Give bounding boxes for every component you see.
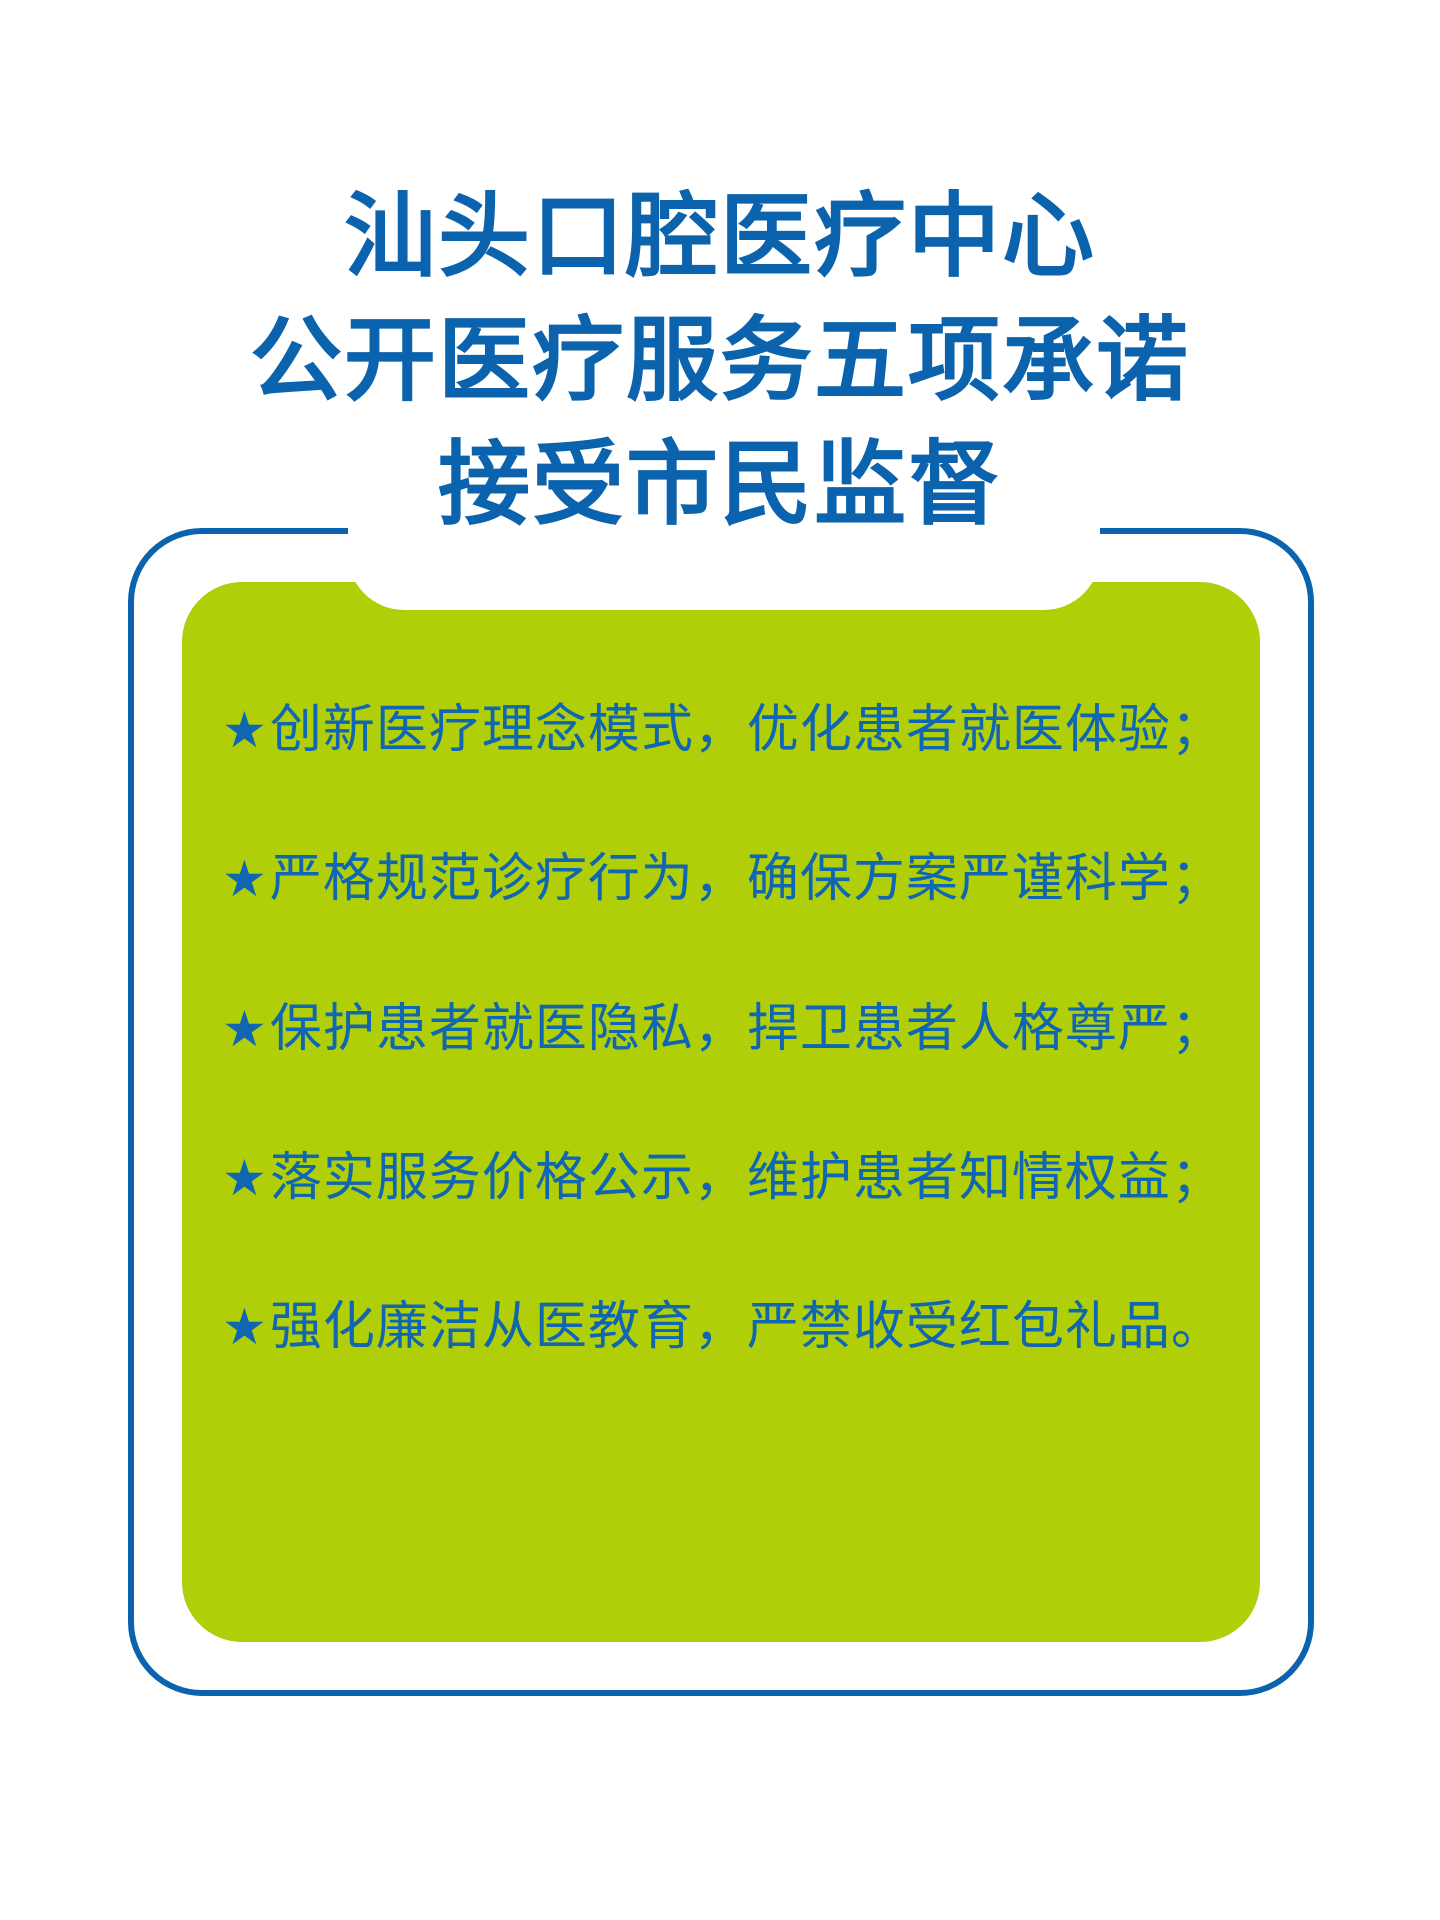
list-item: ★ 保护患者就医隐私，捍卫患者人格尊严； (222, 999, 1220, 1060)
title-line-1: 汕头口腔医疗中心 (0, 180, 1440, 294)
list-item: ★ 创新医疗理念模式，优化患者就医体验； (222, 700, 1220, 761)
promise-text: 保护患者就医隐私，捍卫患者人格尊严； (270, 999, 1224, 1060)
promise-text: 创新医疗理念模式，优化患者就医体验； (270, 700, 1224, 761)
poster-root: 汕头口腔医疗中心 公开医疗服务五项承诺 接受市民监督 ★ 创新医疗理念模式，优化… (0, 0, 1440, 1920)
title-line-2: 公开医疗服务五项承诺 (0, 304, 1440, 418)
star-icon: ★ (222, 700, 268, 760)
star-icon: ★ (222, 1148, 268, 1208)
list-item: ★ 落实服务价格公示，维护患者知情权益； (222, 1148, 1220, 1209)
promise-list: ★ 创新医疗理念模式，优化患者就医体验； ★ 严格规范诊疗行为，确保方案严谨科学… (182, 700, 1260, 1359)
star-icon: ★ (222, 999, 268, 1059)
title-line-3: 接受市民监督 (0, 428, 1440, 542)
list-item: ★ 严格规范诊疗行为，确保方案严谨科学； (222, 849, 1220, 910)
promise-text: 强化廉洁从医教育，严禁收受红包礼品。 (270, 1297, 1224, 1358)
poster-title: 汕头口腔医疗中心 公开医疗服务五项承诺 接受市民监督 (0, 180, 1440, 542)
star-icon: ★ (222, 849, 268, 909)
list-item: ★ 强化廉洁从医教育，严禁收受红包礼品。 (222, 1297, 1220, 1358)
promise-text: 严格规范诊疗行为，确保方案严谨科学； (270, 849, 1224, 910)
promise-text: 落实服务价格公示，维护患者知情权益； (270, 1148, 1224, 1209)
star-icon: ★ (222, 1297, 268, 1357)
